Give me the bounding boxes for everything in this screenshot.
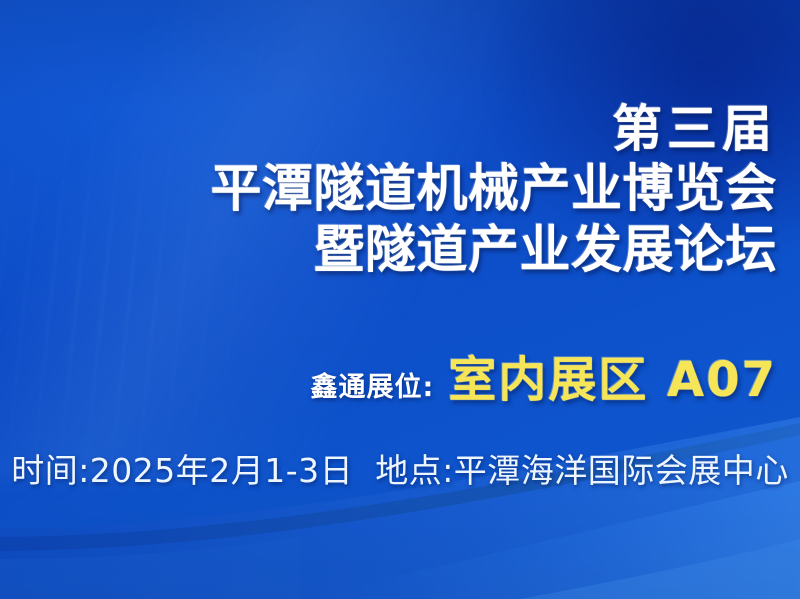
poster-content: 第三届 平潭隧道机械产业博览会 暨隧道产业发展论坛 鑫通展位: 室内展区 A07… xyxy=(0,0,800,599)
booth-label: 鑫通展位: xyxy=(311,365,435,404)
headline-line-2: 平潭隧道机械产业博览会 xyxy=(17,164,777,215)
event-date: 时间:2025年2月1-3日 xyxy=(11,444,353,492)
exhibition-poster: 第三届 平潭隧道机械产业博览会 暨隧道产业发展论坛 鑫通展位: 室内展区 A07… xyxy=(0,0,800,599)
headline-line-3: 暨隧道产业发展论坛 xyxy=(17,225,777,276)
headline-line-1: 第三届 xyxy=(17,104,777,154)
poster-headline: 第三届 平潭隧道机械产业博览会 暨隧道产业发展论坛 xyxy=(17,104,777,276)
event-details: 时间:2025年2月1-3日 地点:平潭海洋国际会展中心 xyxy=(0,444,800,492)
booth-info: 鑫通展位: 室内展区 A07 xyxy=(17,340,777,410)
booth-number: 室内展区 A07 xyxy=(448,340,777,410)
event-venue: 地点:平潭海洋国际会展中心 xyxy=(375,444,789,492)
